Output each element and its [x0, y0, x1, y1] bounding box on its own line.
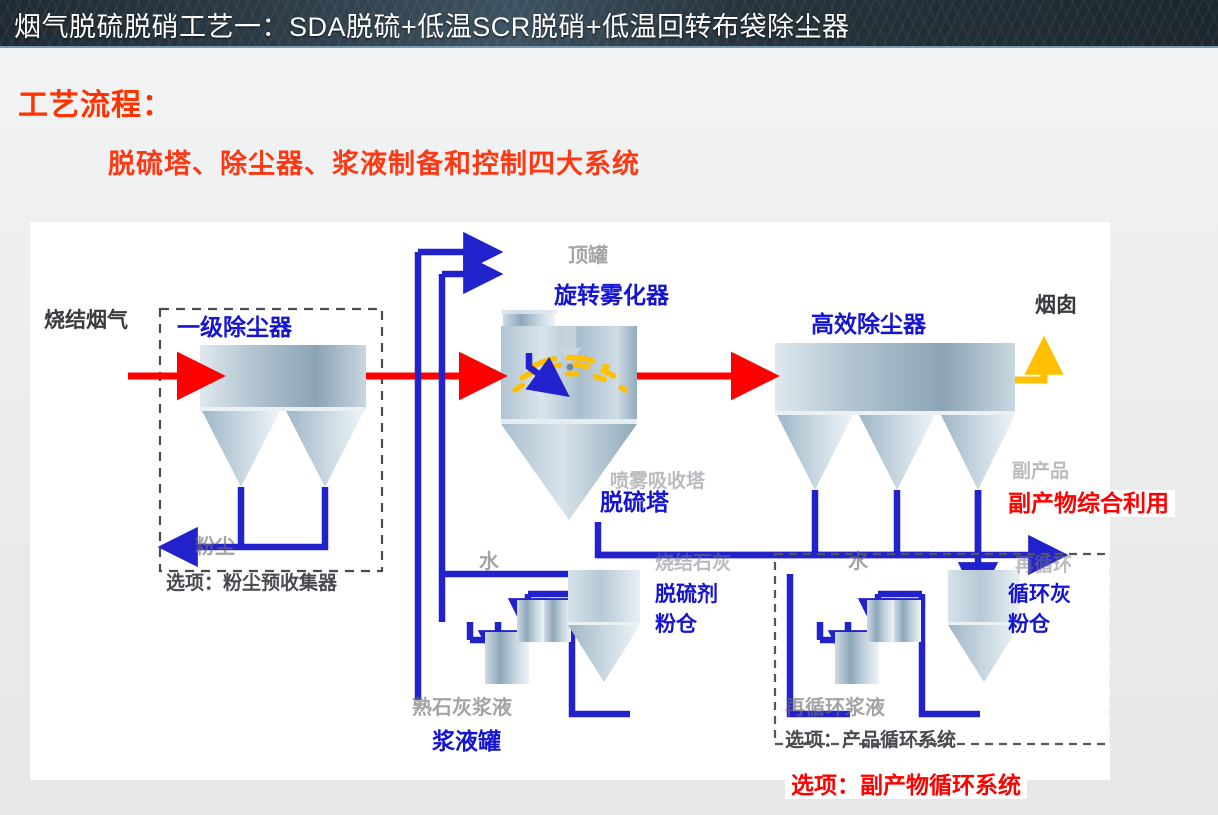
slide-title-bar: 烟气脱硫脱硝工艺一：SDA脱硫+低温SCR脱硝+低温回转布袋除尘器 [0, 0, 1218, 48]
label-desulfurization-tower: 脱硫塔 [600, 491, 669, 514]
label-option-byproduct-recycle: 选项：副产物循环系统 [785, 772, 1027, 799]
label-rotary-atomizer: 旋转雾化器 [554, 284, 669, 307]
label-slurry-tank: 浆液罐 [432, 730, 501, 753]
recycle-ash-group-graphic [835, 570, 1020, 684]
label-sintered-lime-faded: 烧结石灰 [655, 554, 731, 573]
label-high-efficiency-collector: 高效除尘器 [811, 313, 926, 336]
high-efficiency-collector-graphic [775, 343, 1015, 490]
label-desulfurizer-silo-line2: 粉仓 [655, 614, 697, 635]
label-water-left: 水 [479, 552, 499, 572]
label-recycle-faded: 再循环 [1015, 556, 1072, 575]
label-inlet-gas: 烧结烟气 [44, 310, 128, 331]
label-water-right: 水 [848, 552, 868, 572]
process-diagram-card: 烧结烟气 一级除尘器 粉尘 选项：粉尘预收集器 顶罐 旋转雾化器 喷雾吸收塔 脱… [30, 222, 1110, 780]
page-title: 工艺流程： [18, 80, 173, 124]
label-slaked-lime-slurry: 熟石灰浆液 [412, 698, 512, 718]
slide-root: 烟气脱硫脱硝工艺一：SDA脱硫+低温SCR脱硝+低温回转布袋除尘器 工艺流程： … [0, 0, 1218, 815]
label-desulfurizer-silo-line1: 脱硫剂 [655, 584, 718, 605]
primary-dust-collector-graphic [200, 345, 366, 487]
page-subtitle: 脱硫塔、除尘器、浆液制备和控制四大系统 [108, 142, 640, 181]
label-primary-dust-collector: 一级除尘器 [177, 316, 292, 339]
label-recycle-ash-silo-line1: 循环灰 [1008, 584, 1071, 605]
label-dust: 粉尘 [195, 537, 235, 557]
label-byproduct-utilization: 副产物综合利用 [1002, 490, 1175, 517]
slurry-tank-group-graphic [485, 570, 640, 684]
label-byproduct-faded: 副产品 [1012, 462, 1069, 481]
label-chimney: 烟囱 [1035, 295, 1077, 316]
label-recycle-slurry: 再循环浆液 [785, 698, 885, 718]
label-option-product-recycle: 选项：产品循环系统 [785, 731, 956, 750]
clean-gas-chimney-flow-yellow [1015, 344, 1044, 380]
label-recycle-ash-silo-line2: 粉仓 [1008, 614, 1050, 635]
slide-title-text: 烟气脱硫脱硝工艺一：SDA脱硫+低温SCR脱硝+低温回转布袋除尘器 [14, 5, 850, 44]
label-top-tank: 顶罐 [568, 246, 608, 266]
label-option-pre-collector: 选项：粉尘预收集器 [166, 574, 337, 593]
